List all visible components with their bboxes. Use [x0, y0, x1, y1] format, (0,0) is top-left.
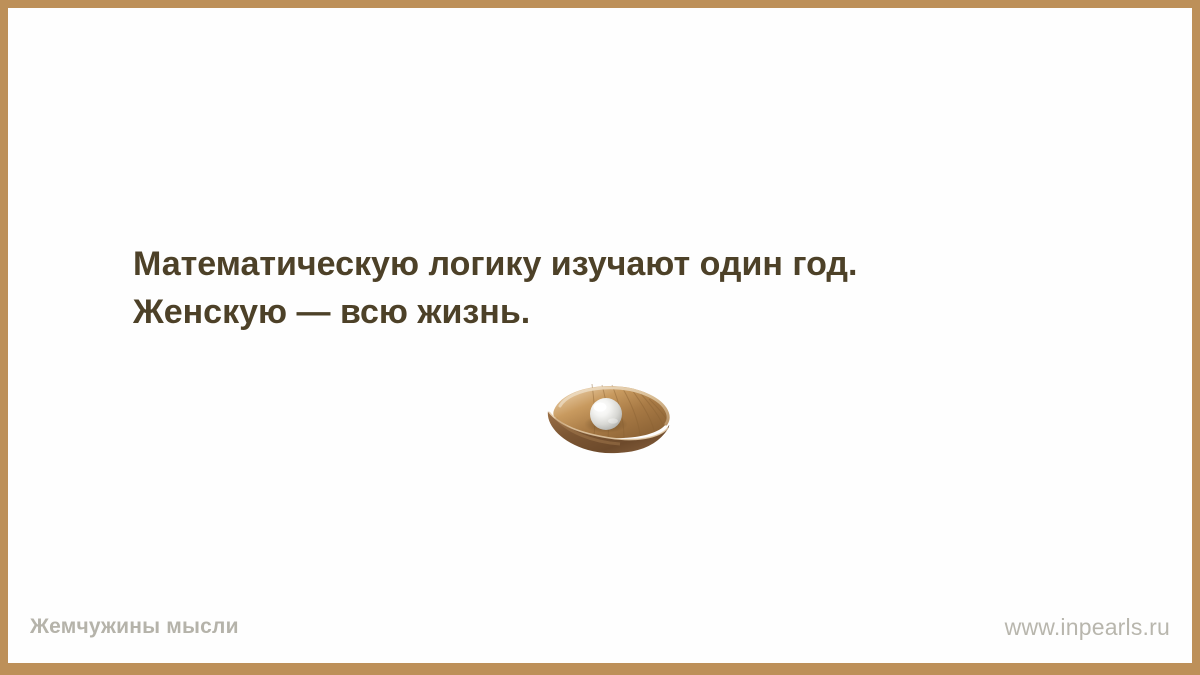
oyster-shell-with-pearl-icon [544, 380, 674, 456]
quote-card: Математическую логику изучают один год. … [0, 0, 1200, 675]
site-url[interactable]: www.inpearls.ru [1005, 615, 1170, 639]
quote-text: Математическую логику изучают один год. … [133, 240, 1093, 336]
site-brand: Жемчужины мысли [30, 615, 239, 639]
